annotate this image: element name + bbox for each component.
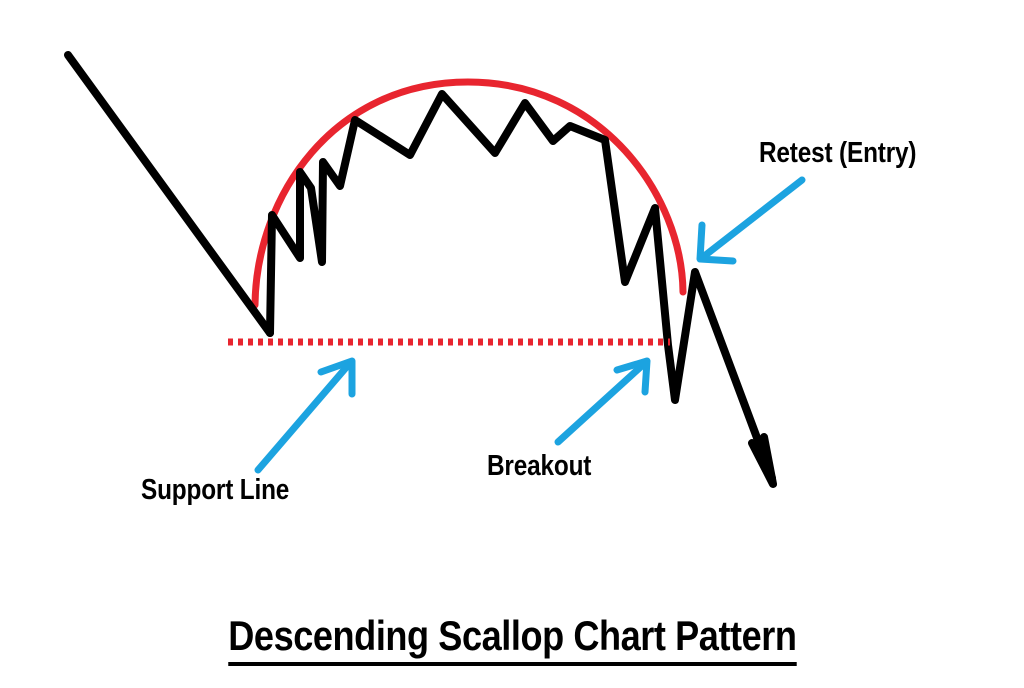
chart-title: Descending Scallop Chart Pattern: [0, 612, 1024, 666]
chart-pattern-diagram: Support Line Breakout Retest (Entry) Des…: [0, 0, 1024, 688]
chart-title-text: Descending Scallop Chart Pattern: [228, 612, 796, 666]
breakout-label: Breakout: [487, 450, 591, 483]
pattern-illustration: [0, 0, 1024, 688]
support-line-label: Support Line: [141, 474, 289, 507]
retest-entry-label: Retest (Entry): [759, 137, 916, 170]
